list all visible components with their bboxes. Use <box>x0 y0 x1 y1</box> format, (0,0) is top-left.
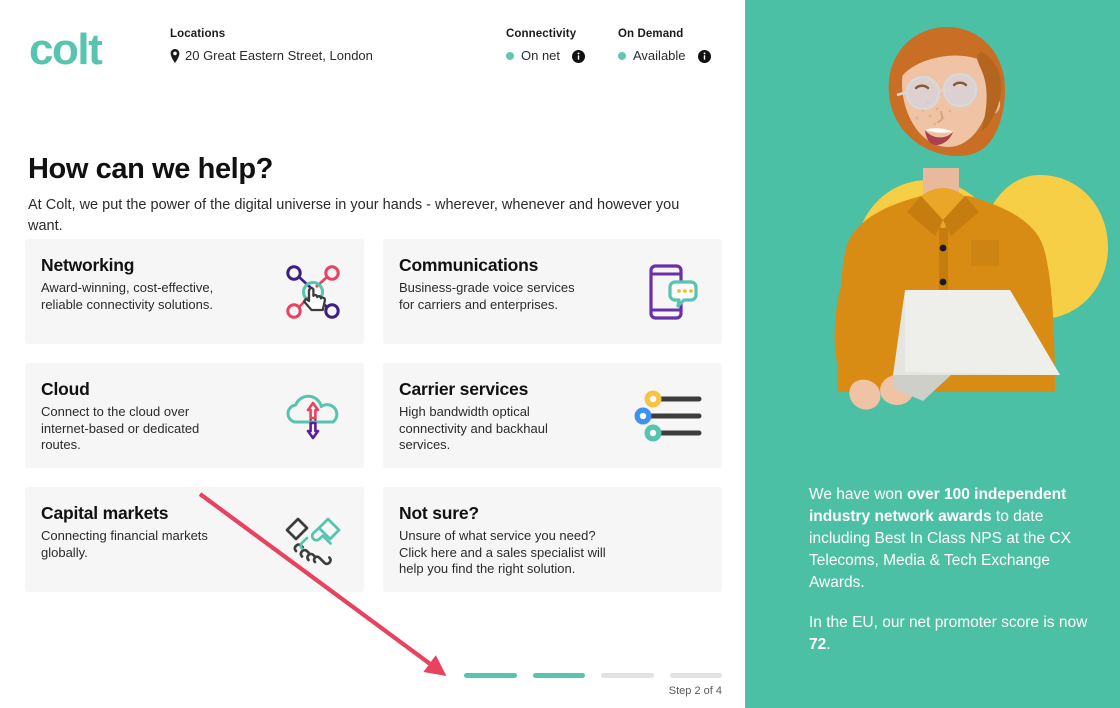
info-icon[interactable] <box>698 50 711 63</box>
progress-indicator: Step 2 of 4 <box>464 673 722 698</box>
network-nodes-cursor-icon <box>281 260 345 324</box>
header-connectivity-group: Connectivity On net <box>506 27 585 64</box>
card-description: Award-winning, cost-effective, reliable … <box>41 280 241 313</box>
card-capital-markets[interactable]: Capital markets Connecting financial mar… <box>25 487 364 592</box>
service-card-grid: Networking Award-winning, cost-effective… <box>25 239 722 592</box>
card-title: Not sure? <box>399 503 704 524</box>
intro-block: How can we help? At Colt, we put the pow… <box>28 152 718 237</box>
connectivity-status-dot <box>506 52 514 60</box>
smiling-woman-with-laptop-photo <box>745 0 1120 470</box>
promo-paragraph-2: In the EU, our net promoter score is now… <box>809 612 1091 656</box>
promo-p2-bold: 72 <box>809 636 826 653</box>
right-promo-panel: We have won over 100 independent industr… <box>745 0 1120 708</box>
promo-p1-part1: We have won <box>809 486 907 503</box>
promo-p2-part2: . <box>826 636 830 653</box>
locations-label: Locations <box>170 27 373 41</box>
progress-bar-3[interactable] <box>601 673 654 678</box>
card-carrier-services[interactable]: Carrier services High bandwidth optical … <box>383 363 722 468</box>
ondemand-label: On Demand <box>618 27 711 41</box>
ondemand-value: Available <box>633 48 686 64</box>
progress-bar-1[interactable] <box>464 673 517 678</box>
phone-chat-bubble-icon <box>639 260 703 324</box>
progress-bar-4[interactable] <box>670 673 723 678</box>
card-description: High bandwidth optical connectivity and … <box>399 404 599 454</box>
page-title: How can we help? <box>28 152 718 186</box>
header-ondemand-group: On Demand Available <box>618 27 711 64</box>
card-communications[interactable]: Communications Business-grade voice serv… <box>383 239 722 344</box>
promo-paragraph-1: We have won over 100 independent industr… <box>809 484 1091 594</box>
card-not-sure[interactable]: Not sure? Unsure of what service you nee… <box>383 487 722 592</box>
left-panel: colt Locations 20 Great Eastern Street, … <box>0 0 745 708</box>
handshake-icon <box>281 508 345 572</box>
page-header: colt Locations 20 Great Eastern Street, … <box>0 0 745 92</box>
intro-body: At Colt, we put the power of the digital… <box>28 195 704 237</box>
connectivity-value: On net <box>521 48 560 64</box>
page-root: colt Locations 20 Great Eastern Street, … <box>0 0 1120 708</box>
map-pin-icon <box>170 49 180 63</box>
sliders-icon <box>631 388 703 444</box>
locations-value: 20 Great Eastern Street, London <box>185 48 373 64</box>
card-networking[interactable]: Networking Award-winning, cost-effective… <box>25 239 364 344</box>
progress-bars <box>464 673 722 678</box>
header-locations-group: Locations 20 Great Eastern Street, Londo… <box>170 27 373 64</box>
promo-copy: We have won over 100 independent industr… <box>809 484 1091 656</box>
colt-logo[interactable]: colt <box>29 28 101 72</box>
cloud-up-down-arrows-icon <box>281 384 345 448</box>
step-counter-text: Step 2 of 4 <box>464 685 722 698</box>
card-description: Connect to the cloud over internet-based… <box>41 404 241 454</box>
card-cloud[interactable]: Cloud Connect to the cloud over internet… <box>25 363 364 468</box>
connectivity-label: Connectivity <box>506 27 585 41</box>
progress-bar-2[interactable] <box>533 673 586 678</box>
card-description: Unsure of what service you need? Click h… <box>399 528 659 578</box>
card-description: Connecting financial markets globally. <box>41 528 241 561</box>
ondemand-status-dot <box>618 52 626 60</box>
info-icon[interactable] <box>572 50 585 63</box>
promo-p2-part1: In the EU, our net promoter score is now <box>809 614 1087 631</box>
card-description: Business-grade voice services for carrie… <box>399 280 599 313</box>
